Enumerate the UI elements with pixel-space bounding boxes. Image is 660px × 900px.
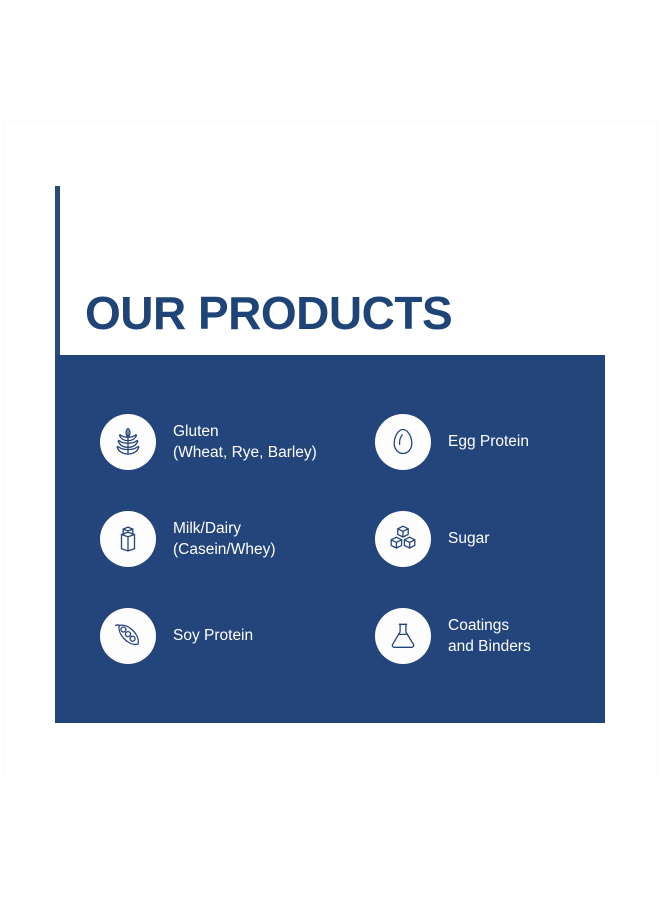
flask-icon: [375, 608, 431, 664]
egg-icon: [375, 414, 431, 470]
list-item-label: Milk/Dairy (Casein/Whey): [173, 518, 276, 560]
wheat-icon: [100, 414, 156, 470]
list-item-milk-dairy: Milk/Dairy (Casein/Whey): [100, 490, 375, 587]
title-line-1: OUR PRODUCTS: [85, 288, 452, 339]
list-item-egg-protein: Egg Protein: [375, 393, 570, 490]
milk-carton-icon: [100, 511, 156, 567]
list-item-label: Sugar: [448, 528, 489, 549]
free-from-panel: Gluten (Wheat, Rye, Barley) Egg Protein: [55, 355, 605, 723]
list-item-label: Egg Protein: [448, 431, 529, 452]
soybean-pod-icon: [100, 608, 156, 664]
list-item-label: Coatings and Binders: [448, 615, 531, 657]
list-item-label: Soy Protein: [173, 625, 253, 646]
list-item-gluten: Gluten (Wheat, Rye, Barley): [100, 393, 375, 490]
list-item-label: Gluten (Wheat, Rye, Barley): [173, 421, 317, 463]
list-item-coatings-and-binders: Coatings and Binders: [375, 587, 570, 684]
sugar-cubes-icon: [375, 511, 431, 567]
infographic-page: OUR PRODUCTS ARE FREE OF...: [0, 0, 660, 900]
list-item-sugar: Sugar: [375, 490, 570, 587]
list-item-soy-protein: Soy Protein: [100, 587, 375, 684]
free-from-list: Gluten (Wheat, Rye, Barley) Egg Protein: [100, 393, 570, 684]
